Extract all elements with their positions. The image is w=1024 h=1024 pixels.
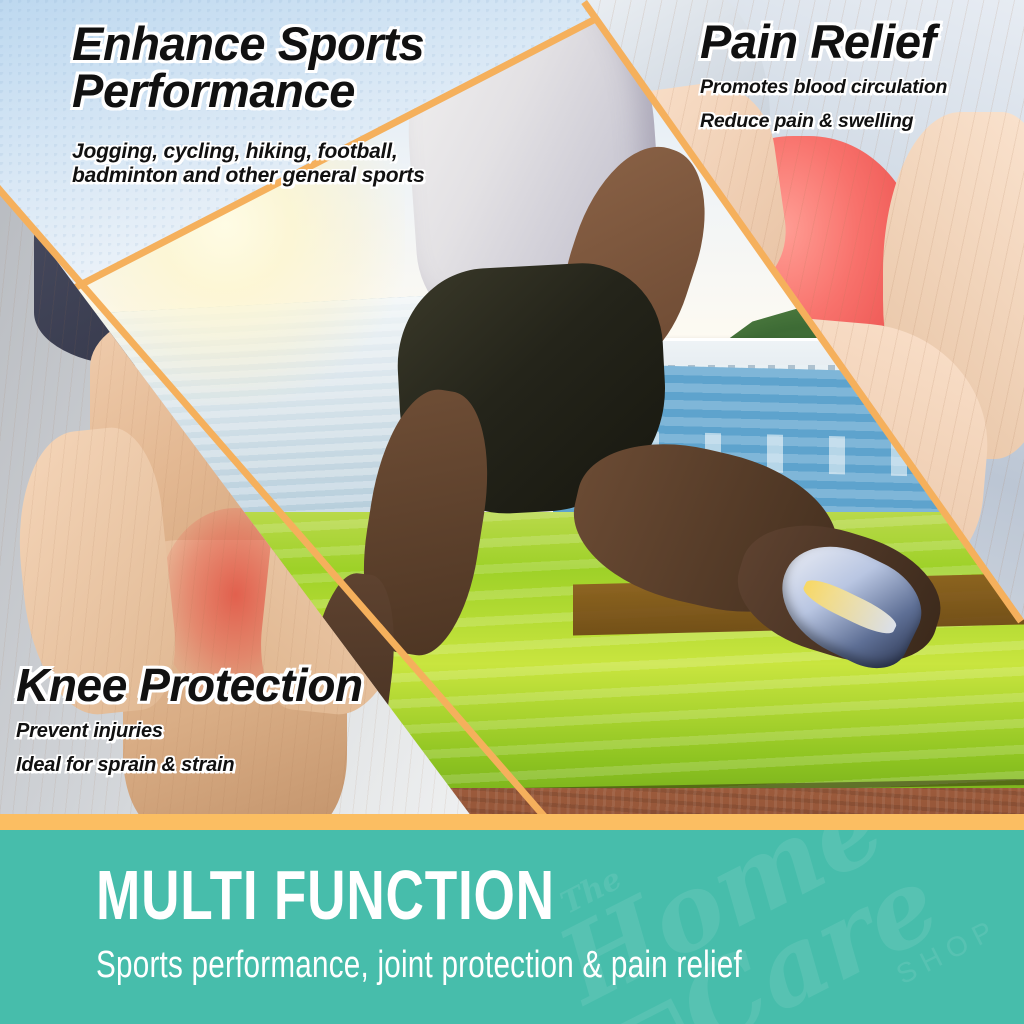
bottom-banner: The HomeCare SHOP MULTI FUNCTION Sports … [0,830,1024,1024]
headline-sports-line1: Enhance Sports [72,20,502,67]
subtext-pain-line1: Promotes blood circulation [700,77,1024,99]
brand-watermark: The HomeCare SHOP [534,830,1024,1024]
banner-title: MULTI FUNCTION [96,860,555,930]
text-block-pain-relief: Pain Relief Promotes blood circulation R… [700,18,1024,133]
gold-accent-stripe [0,814,1024,830]
headline-sports-line2: Performance [72,67,502,114]
product-feature-poster: Enhance Sports Performance Jogging, cycl… [0,0,1024,1024]
headline-pain-relief: Pain Relief [700,18,1024,65]
watermark-home: Home [540,830,902,1024]
text-block-sports-performance: Enhance Sports Performance Jogging, cycl… [72,20,502,187]
subtext-knee-line2: Ideal for sprain & strain [16,754,486,776]
subtext-pain-line2: Reduce pain & swelling [700,111,1024,133]
watermark-care: Care [660,841,957,1024]
banner-subtitle: Sports performance, joint protection & p… [96,946,742,984]
watermark-the: The [557,830,921,918]
text-block-knee-protection: Knee Protection Prevent injuries Ideal f… [16,662,486,777]
medical-cross-icon [605,999,705,1024]
headline-knee-protection: Knee Protection [16,662,486,708]
subtext-knee-line1: Prevent injuries [16,720,486,742]
subtext-sports: Jogging, cycling, hiking, football, badm… [72,140,442,187]
